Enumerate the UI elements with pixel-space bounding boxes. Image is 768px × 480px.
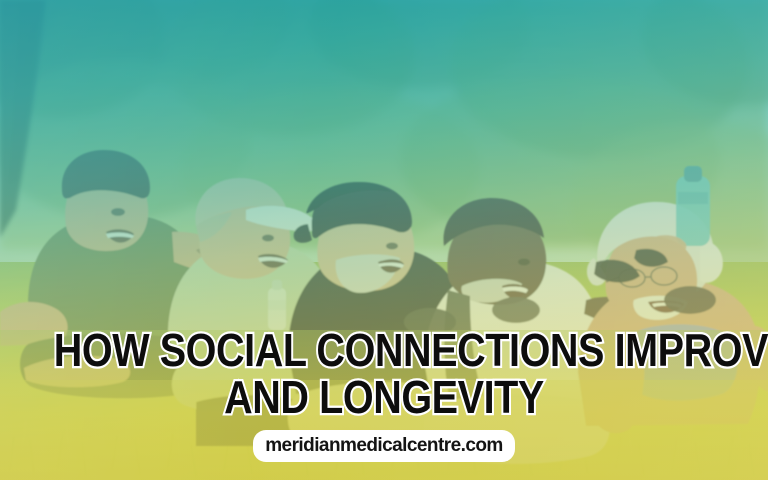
article-header-banner: HOW SOCIAL CONNECTIONS IMPROVE HEALTH AN…: [0, 0, 768, 480]
banner-photo: [0, 0, 768, 480]
website-url-badge[interactable]: meridianmedicalcentre.com: [253, 430, 515, 462]
